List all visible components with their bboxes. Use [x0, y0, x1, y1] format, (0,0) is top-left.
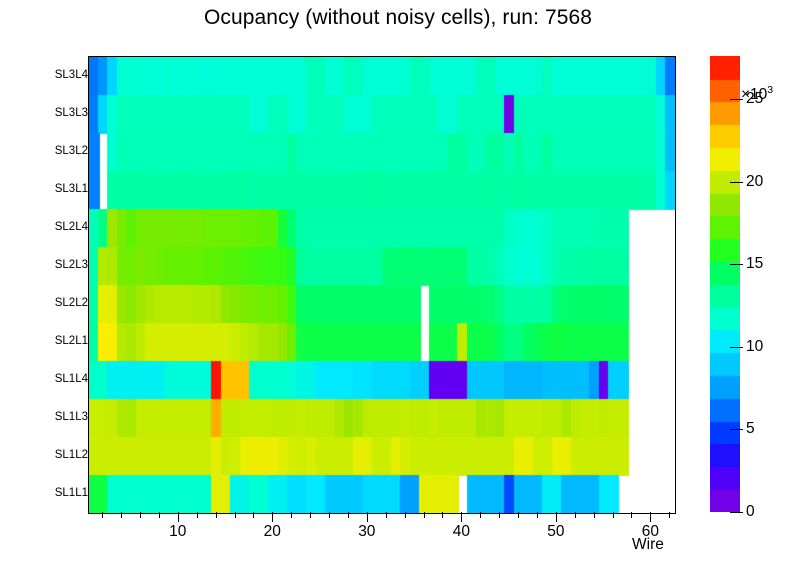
x-axis-minor-tick — [197, 512, 198, 518]
x-axis-minor-tick — [253, 512, 254, 518]
x-axis-tick-label-30: 30 — [358, 523, 375, 541]
x-axis-tick-label-10: 10 — [169, 523, 186, 541]
x-axis-minor-tick — [310, 512, 311, 518]
x-axis-tick-label-40: 40 — [453, 523, 470, 541]
colorbar-tick — [730, 99, 743, 100]
x-axis-minor-tick — [102, 512, 103, 518]
x-axis-minor-tick — [537, 512, 538, 518]
x-axis-minor-tick — [499, 512, 500, 518]
x-axis-minor-tick — [216, 512, 217, 518]
colorbar-tick — [730, 347, 743, 348]
y-axis-label-sl3l3: SL3L3 — [8, 107, 88, 119]
colorbar-tick-label: 5 — [746, 420, 755, 438]
x-axis-minor-tick — [291, 512, 292, 518]
colorbar: ×103 0510152025 — [710, 56, 796, 516]
y-axis-label-sl2l3: SL2L3 — [8, 259, 88, 271]
x-axis-minor-tick — [386, 512, 387, 518]
x-axis-tick-label-20: 20 — [264, 523, 281, 541]
x-axis-minor-tick — [631, 512, 632, 518]
page-title: Ocupancy (without noisy cells), run: 756… — [0, 6, 796, 30]
x-axis-minor-tick — [442, 512, 443, 518]
y-axis-label-sl3l1: SL3L1 — [8, 183, 88, 195]
x-axis-minor-tick — [424, 512, 425, 518]
y-axis-label-sl3l4: SL3L4 — [8, 69, 88, 81]
x-axis-minor-tick — [669, 512, 670, 518]
x-axis-major-tick — [178, 512, 179, 522]
colorbar-tick-label: 15 — [746, 255, 763, 273]
colorbar-tick — [730, 264, 743, 265]
y-axis-label-sl1l2: SL1L2 — [8, 449, 88, 461]
heatmap-canvas[interactable] — [89, 57, 675, 513]
x-axis-minor-tick — [329, 512, 330, 518]
x-axis-title: Wire — [632, 536, 664, 554]
y-axis-label-sl2l1: SL2L1 — [8, 335, 88, 347]
x-axis: 102030405060 — [88, 512, 676, 552]
x-axis-minor-tick — [405, 512, 406, 518]
colorbar-exponent-power: 3 — [767, 84, 773, 96]
x-axis-major-tick — [556, 512, 557, 522]
x-axis-major-tick — [461, 512, 462, 522]
y-axis: SL3L4SL3L3SL3L2SL3L1SL2L4SL2L3SL2L2SL2L1… — [0, 56, 88, 514]
root-canvas: Ocupancy (without noisy cells), run: 756… — [0, 0, 796, 572]
x-axis-minor-tick — [518, 512, 519, 518]
y-axis-label-sl1l1: SL1L1 — [8, 487, 88, 499]
x-axis-minor-tick — [348, 512, 349, 518]
x-axis-major-tick — [272, 512, 273, 522]
y-axis-label-sl2l2: SL2L2 — [8, 297, 88, 309]
x-axis-minor-tick — [140, 512, 141, 518]
x-axis-minor-tick — [159, 512, 160, 518]
colorbar-gradient — [710, 56, 740, 512]
colorbar-tick — [730, 429, 743, 430]
x-axis-major-tick — [650, 512, 651, 522]
x-axis-minor-tick — [121, 512, 122, 518]
x-axis-minor-tick — [235, 512, 236, 518]
heatmap-plot-area[interactable] — [88, 56, 676, 514]
colorbar-tick-label: 20 — [746, 173, 763, 191]
colorbar-tick-label: 10 — [746, 338, 763, 356]
colorbar-tick-label: 25 — [746, 90, 763, 108]
colorbar-tick — [730, 182, 743, 183]
colorbar-tick-label: 0 — [746, 503, 755, 521]
x-axis-tick-label-50: 50 — [547, 523, 564, 541]
y-axis-label-sl1l4: SL1L4 — [8, 373, 88, 385]
colorbar-tick — [730, 512, 743, 513]
x-axis-minor-tick — [594, 512, 595, 518]
colorbar-canvas — [710, 56, 740, 512]
x-axis-major-tick — [367, 512, 368, 522]
y-axis-label-sl3l2: SL3L2 — [8, 145, 88, 157]
x-axis-minor-tick — [575, 512, 576, 518]
y-axis-label-sl1l3: SL1L3 — [8, 411, 88, 423]
x-axis-minor-tick — [480, 512, 481, 518]
y-axis-label-sl2l4: SL2L4 — [8, 221, 88, 233]
x-axis-minor-tick — [613, 512, 614, 518]
